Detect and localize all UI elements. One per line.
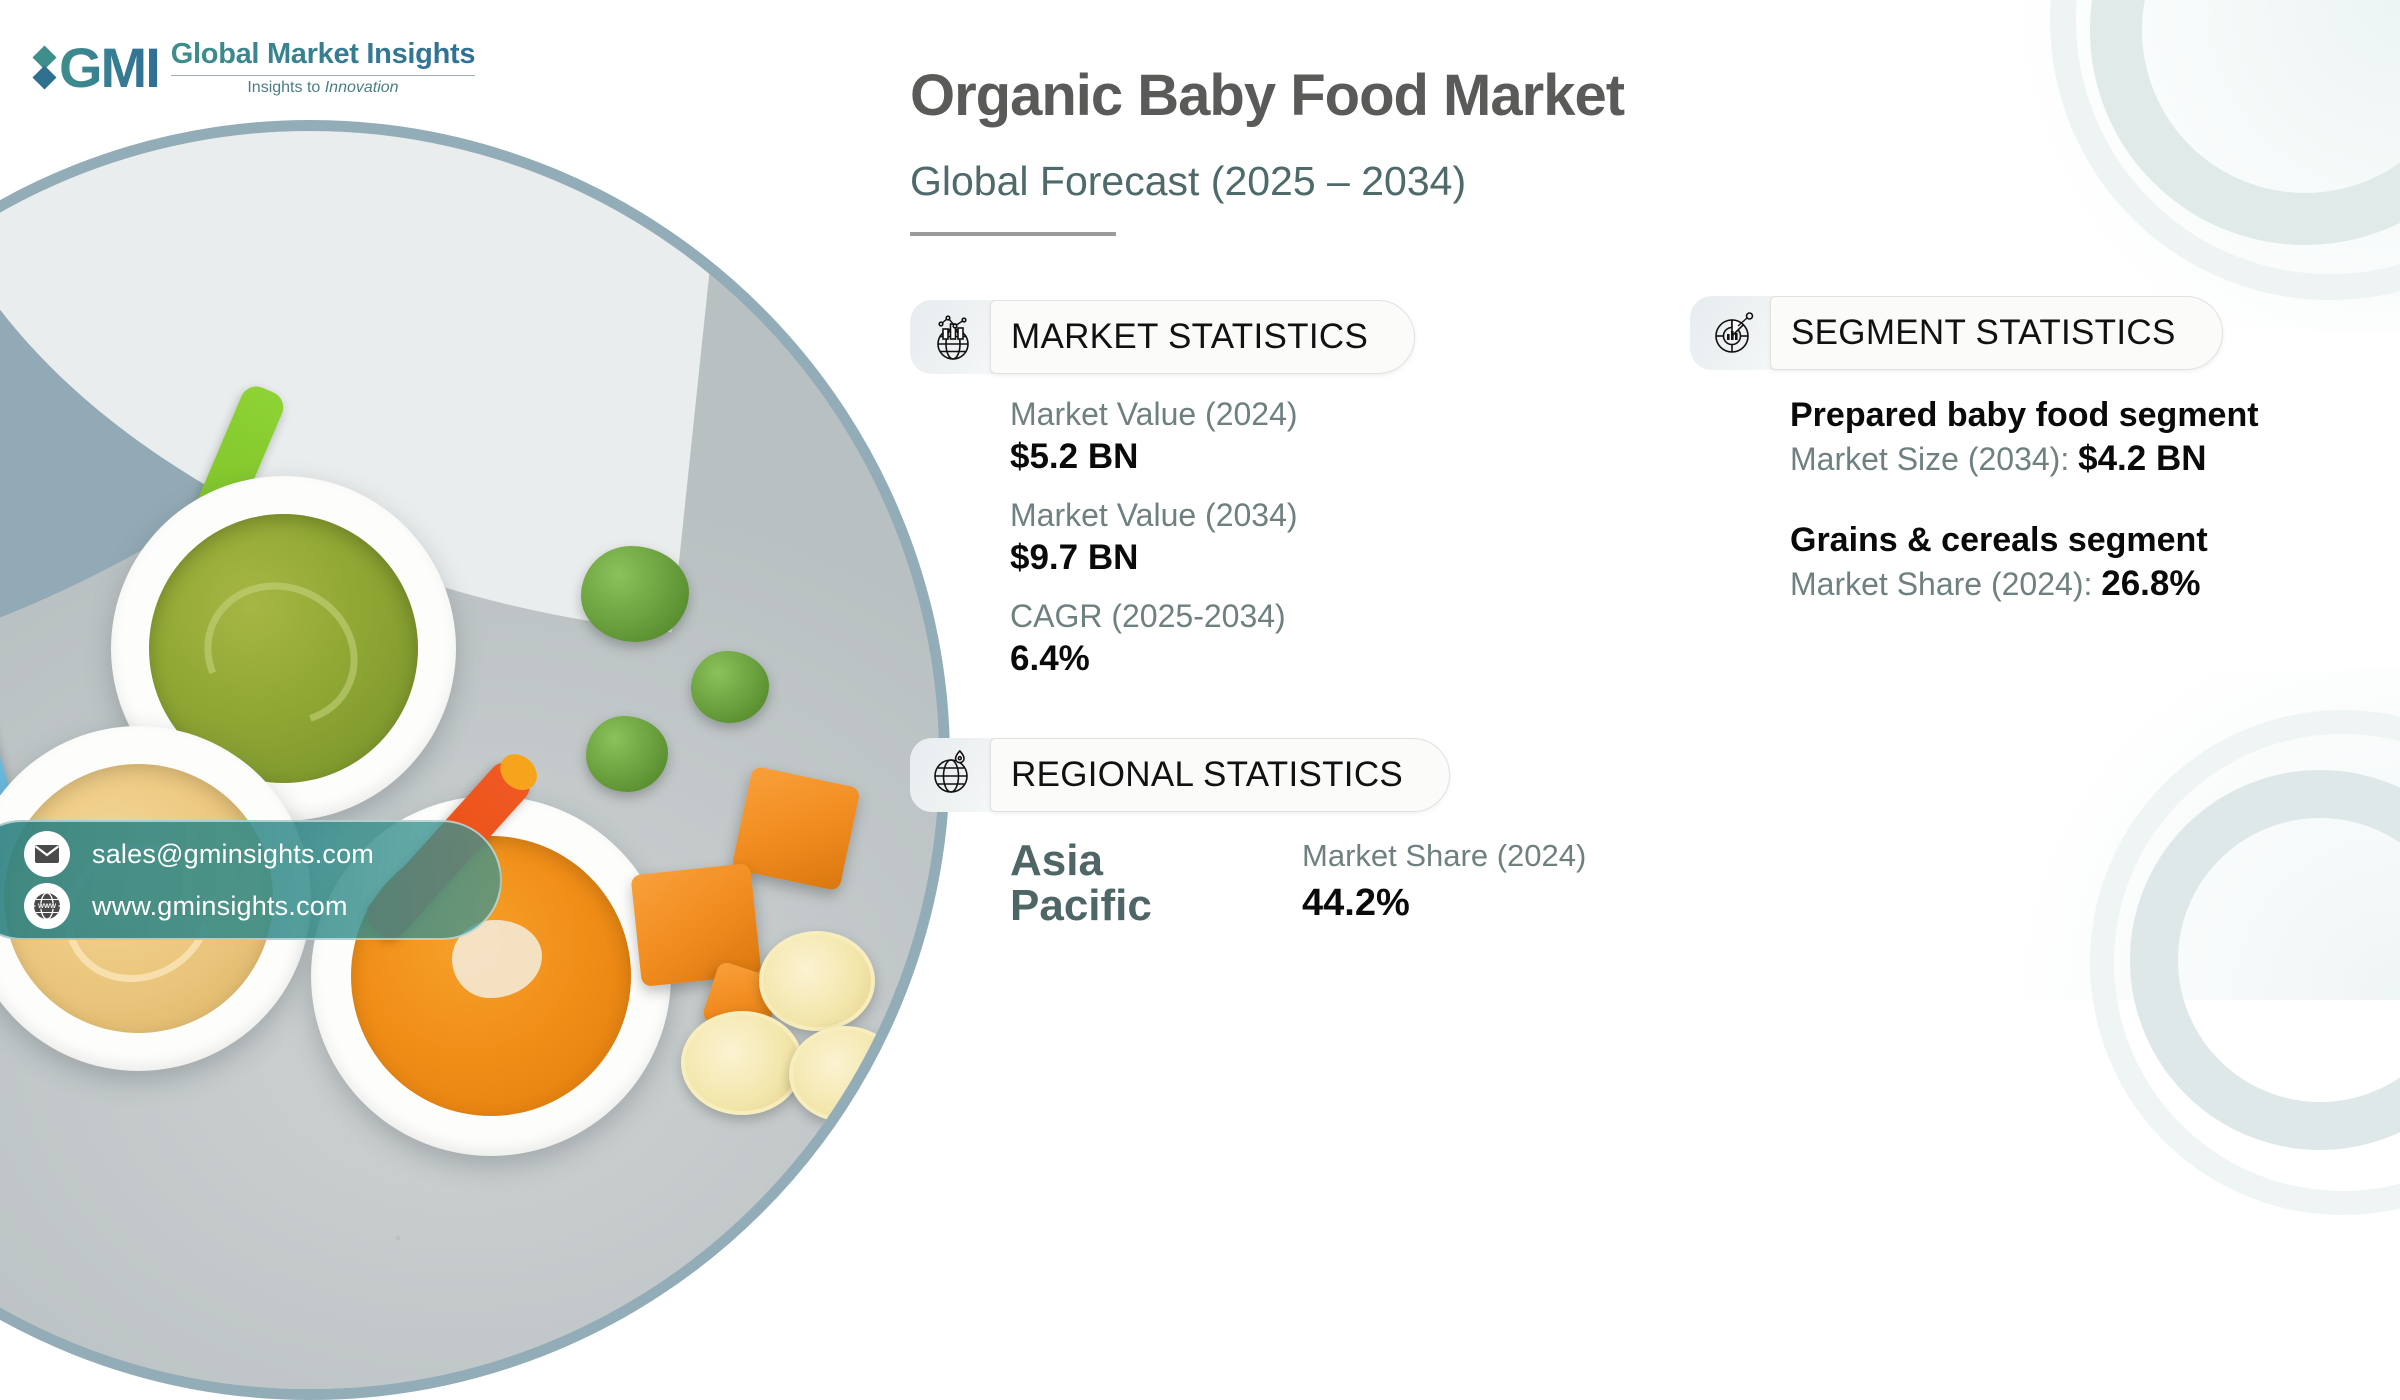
donut-chart-icon [1690, 296, 1776, 370]
segment-heading: Grains & cereals segment [1790, 521, 2259, 560]
gmi-logo[interactable]: GMI Global Market Insights Insights to I… [36, 38, 475, 97]
market-statistics-label: MARKET STATISTICS [990, 300, 1415, 374]
baby-food-bowls-photo [0, 120, 950, 1400]
banana-slice [681, 1011, 803, 1115]
broccoli-floret [691, 651, 769, 723]
region-share-value: 44.2% [1302, 882, 1586, 925]
broccoli-floret [581, 546, 689, 642]
page-title: Organic Baby Food Market [910, 62, 1624, 129]
banana-slice [759, 931, 875, 1031]
segment-metric-value: $4.2 BN [2078, 439, 2206, 478]
logo-tagline: Insights to Innovation [171, 79, 475, 97]
contact-email-row[interactable]: sales@gminsights.com [24, 831, 500, 877]
diamond-logo-icon [36, 49, 53, 86]
logo-mark: GMI [36, 40, 159, 96]
regional-statistics-label: REGIONAL STATISTICS [990, 738, 1450, 812]
segment-metric-line: Market Size (2034): $4.2 BN [1790, 439, 2259, 479]
segment-statistics-badge[interactable]: SEGMENT STATISTICS [1690, 296, 2223, 370]
title-underline [910, 232, 1116, 236]
stat-label: Market Value (2024) [1010, 396, 1298, 433]
stat-value: 6.4% [1010, 639, 1298, 679]
segment-metric-label: Market Share (2024): [1790, 566, 2101, 602]
contact-website-row[interactable]: WWW www.gminsights.com [24, 883, 500, 929]
market-statistics-list: Market Value (2024) $5.2 BN Market Value… [1010, 396, 1298, 679]
page-subtitle: Global Forecast (2025 – 2034) [910, 158, 1466, 205]
broccoli-floret [586, 716, 668, 792]
segment-heading: Prepared baby food segment [1790, 396, 2259, 435]
regional-statistics-badge[interactable]: REGIONAL STATISTICS [910, 738, 1450, 812]
segment-item: Prepared baby food segment Market Size (… [1790, 396, 2259, 479]
globe-bar-chart-icon [910, 300, 996, 374]
stat-item: Market Value (2034) $9.7 BN [1010, 497, 1298, 578]
segment-item: Grains & cereals segment Market Share (2… [1790, 521, 2259, 604]
stat-value: $5.2 BN [1010, 437, 1298, 477]
email-text: sales@gminsights.com [92, 839, 374, 870]
stat-label: CAGR (2025-2034) [1010, 598, 1298, 635]
segment-metric-line: Market Share (2024): 26.8% [1790, 564, 2259, 604]
envelope-icon [24, 831, 70, 877]
logo-company-name: Global Market Insights [171, 38, 475, 71]
regional-statistics-content: Asia Pacific Market Share (2024) 44.2% [1010, 838, 1586, 929]
segment-statistics-list: Prepared baby food segment Market Size (… [1790, 396, 2259, 604]
stat-item: CAGR (2025-2034) 6.4% [1010, 598, 1298, 679]
stat-item: Market Value (2024) $5.2 BN [1010, 396, 1298, 477]
region-name: Asia Pacific [1010, 838, 1220, 929]
www-globe-icon: WWW [24, 883, 70, 929]
website-text: www.gminsights.com [92, 891, 348, 922]
contact-bar: sales@gminsights.com WWW www.gminsights.… [0, 820, 502, 940]
segment-metric-value: 26.8% [2101, 564, 2200, 603]
market-statistics-badge[interactable]: MARKET STATISTICS [910, 300, 1415, 374]
banana-slice [789, 1026, 901, 1122]
stat-value: $9.7 BN [1010, 538, 1298, 578]
content-panel: Organic Baby Food Market Global Forecast… [900, 0, 2400, 1000]
logo-initials: GMI [59, 40, 159, 96]
globe-pin-icon [910, 738, 996, 812]
region-share-label: Market Share (2024) [1302, 838, 1586, 874]
region-share-block: Market Share (2024) 44.2% [1302, 838, 1586, 925]
segment-metric-label: Market Size (2034): [1790, 441, 2078, 477]
stat-label: Market Value (2034) [1010, 497, 1298, 534]
segment-statistics-label: SEGMENT STATISTICS [1770, 296, 2223, 370]
logo-divider [171, 75, 475, 76]
svg-text:WWW: WWW [38, 903, 57, 910]
logo-wordmark: Global Market Insights Insights to Innov… [171, 38, 475, 97]
